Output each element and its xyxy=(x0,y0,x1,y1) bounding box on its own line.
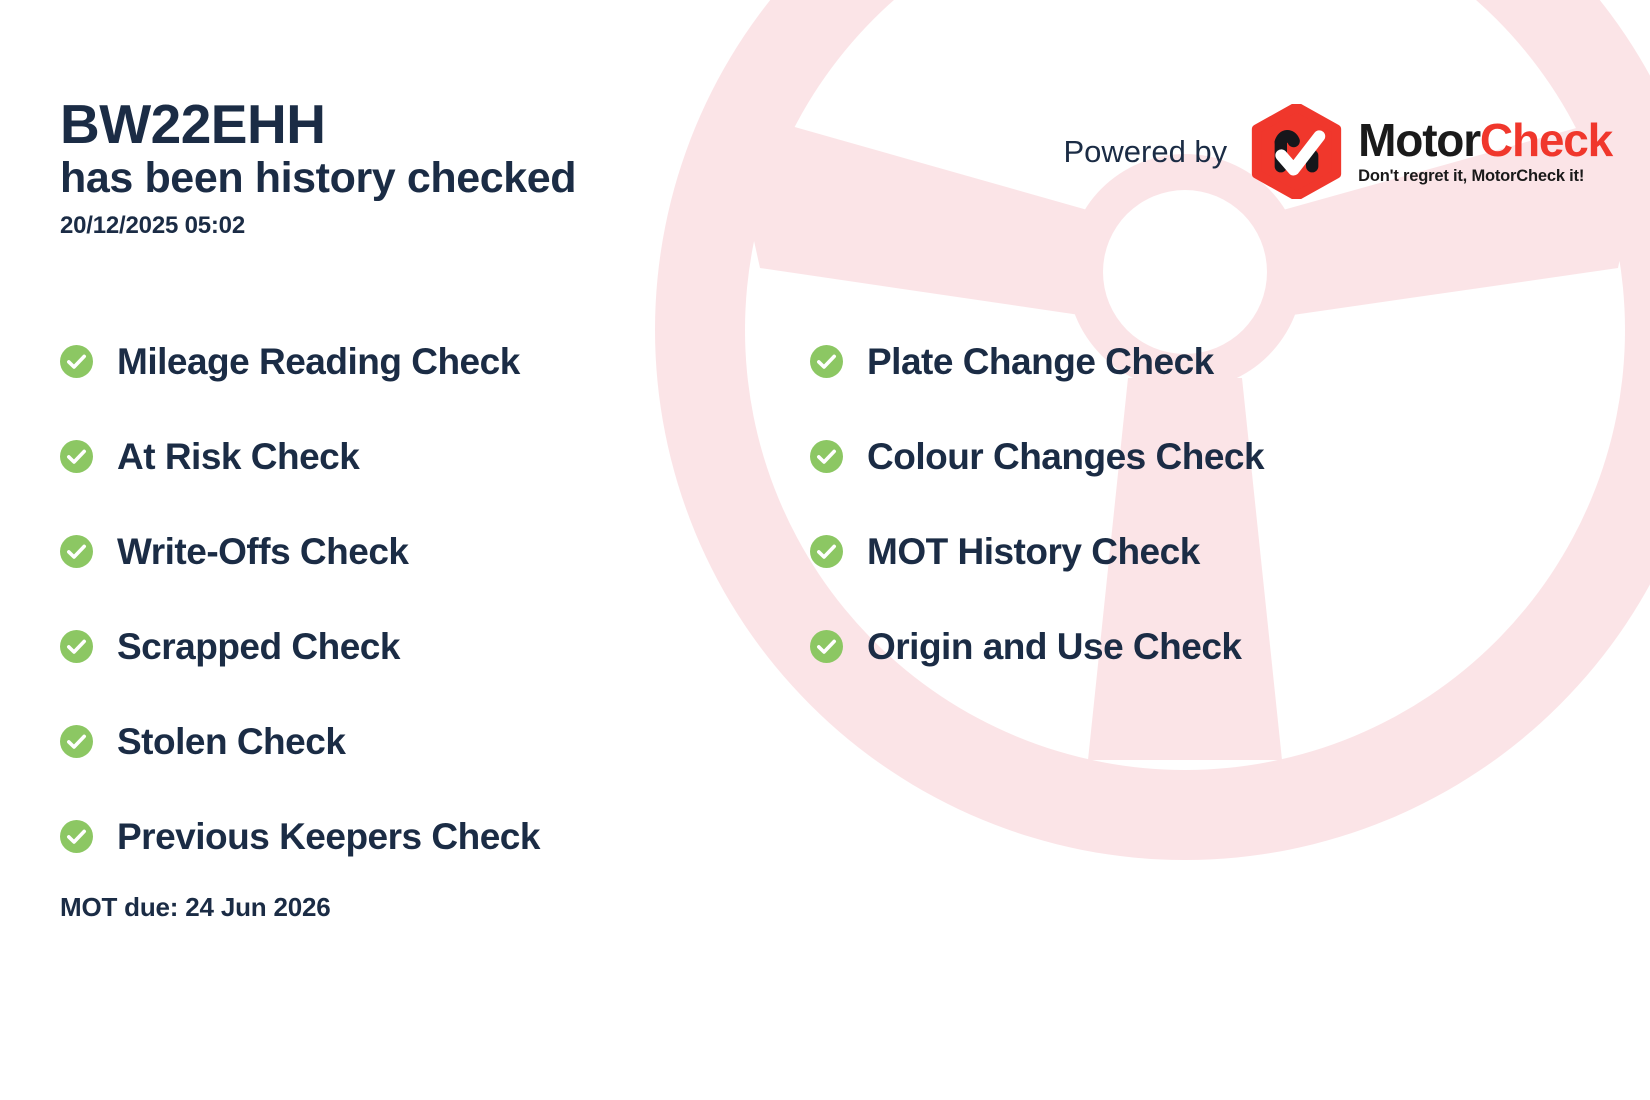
wordmark-check: Check xyxy=(1480,114,1612,166)
check-item-colour-changes: Colour Changes Check xyxy=(810,409,1460,504)
powered-by-label: Powered by xyxy=(1063,134,1227,170)
powered-by-block: Powered by MotorCheck xyxy=(1063,104,1612,199)
check-circle-icon xyxy=(60,440,93,473)
check-circle-icon xyxy=(60,820,93,853)
page-title: has been history checked xyxy=(60,153,576,204)
check-label: Previous Keepers Check xyxy=(117,816,540,858)
motorcheck-hexagon-logo-icon xyxy=(1249,104,1344,199)
brand-tagline: Don't regret it, MotorCheck it! xyxy=(1358,167,1612,186)
check-timestamp: 20/12/2025 05:02 xyxy=(60,212,576,240)
check-item-write-offs: Write-Offs Check xyxy=(60,504,810,599)
check-label: MOT History Check xyxy=(867,531,1200,573)
check-circle-icon xyxy=(810,345,843,378)
check-label: Scrapped Check xyxy=(117,626,400,668)
check-circle-icon xyxy=(810,535,843,568)
wordmark-motor: Motor xyxy=(1358,114,1480,166)
header-block: BW22EHH has been history checked 20/12/2… xyxy=(60,96,576,240)
check-item-origin-and-use: Origin and Use Check xyxy=(810,599,1460,694)
check-circle-icon xyxy=(810,440,843,473)
check-circle-icon xyxy=(60,630,93,663)
check-item-plate-change: Plate Change Check xyxy=(810,314,1460,409)
check-label: Stolen Check xyxy=(117,721,345,763)
check-item-at-risk: At Risk Check xyxy=(60,409,810,504)
check-item-previous-keepers: Previous Keepers Check xyxy=(60,789,810,884)
check-item-mot-history: MOT History Check xyxy=(810,504,1460,599)
registration-plate: BW22EHH xyxy=(60,96,576,153)
check-circle-icon xyxy=(810,630,843,663)
check-circle-icon xyxy=(60,535,93,568)
check-item-mileage-reading: Mileage Reading Check xyxy=(60,314,810,409)
check-item-stolen: Stolen Check xyxy=(60,694,810,789)
motorcheck-wordmark: MotorCheck xyxy=(1358,117,1612,163)
check-label: Write-Offs Check xyxy=(117,531,409,573)
check-circle-icon xyxy=(60,345,93,378)
check-label: Colour Changes Check xyxy=(867,436,1264,478)
check-label: Mileage Reading Check xyxy=(117,341,520,383)
history-check-card: BW22EHH has been history checked 20/12/2… xyxy=(0,0,1650,1100)
mot-due-text: MOT due: 24 Jun 2026 xyxy=(60,892,331,923)
checks-grid: Mileage Reading Check At Risk Check Writ… xyxy=(60,314,1460,884)
checks-column-left: Mileage Reading Check At Risk Check Writ… xyxy=(60,314,810,884)
motorcheck-logo[interactable]: MotorCheck Don't regret it, MotorCheck i… xyxy=(1249,104,1612,199)
check-circle-icon xyxy=(60,725,93,758)
checks-column-right: Plate Change Check Colour Changes Check … xyxy=(810,314,1460,884)
check-item-scrapped: Scrapped Check xyxy=(60,599,810,694)
check-label: At Risk Check xyxy=(117,436,359,478)
check-label: Origin and Use Check xyxy=(867,626,1242,668)
check-label: Plate Change Check xyxy=(867,341,1214,383)
